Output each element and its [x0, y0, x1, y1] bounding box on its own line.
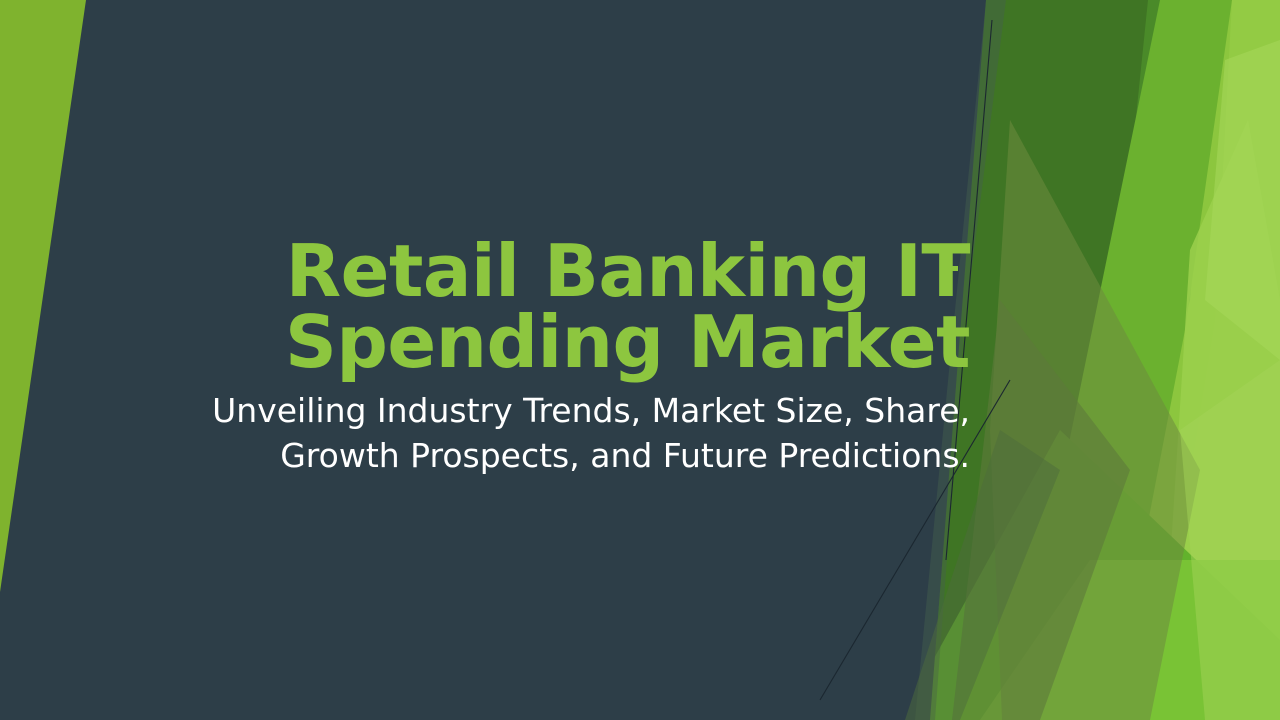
- presentation-slide: Retail Banking IT Spending Market Unveil…: [0, 0, 1280, 720]
- slide-subtitle: Unveiling Industry Trends, Market Size, …: [150, 389, 970, 479]
- page-title: Retail Banking IT Spending Market: [150, 236, 970, 377]
- title-text-block: Retail Banking IT Spending Market Unveil…: [150, 236, 970, 479]
